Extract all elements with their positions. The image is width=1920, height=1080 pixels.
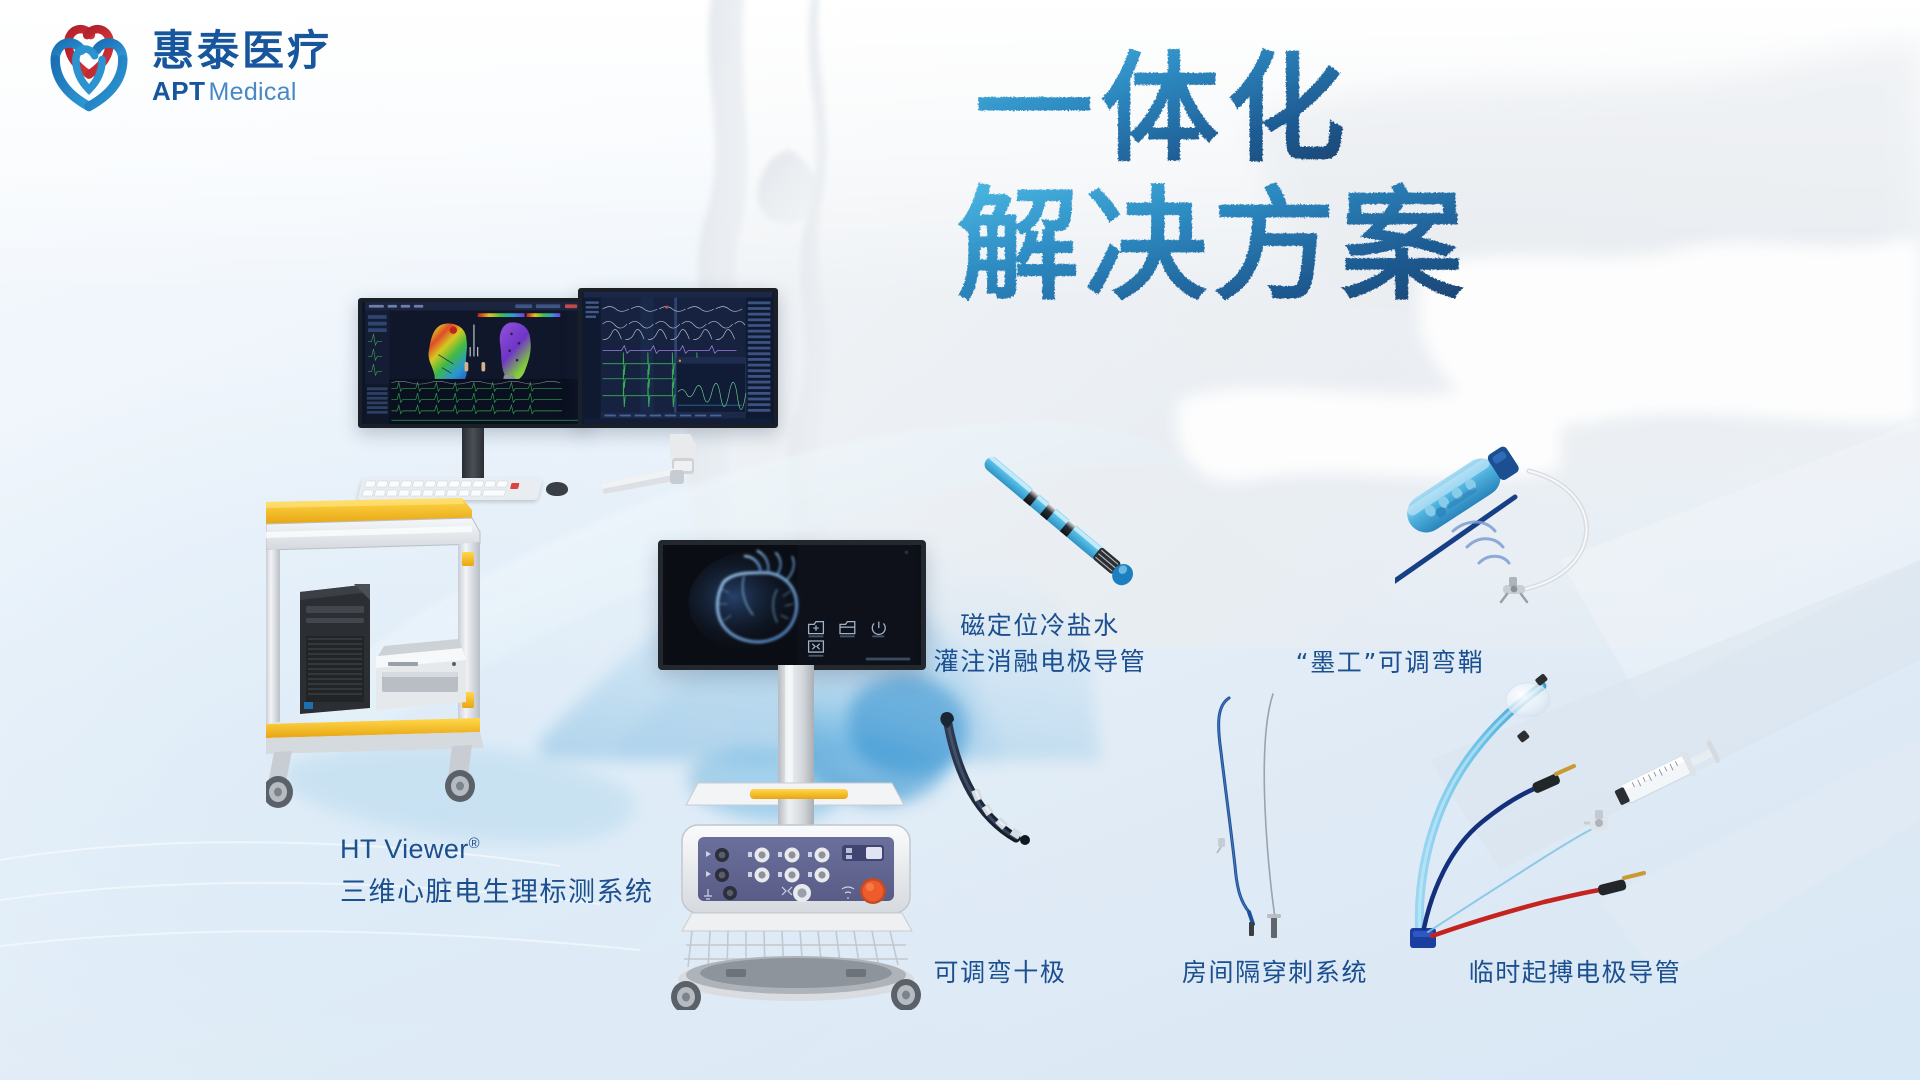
label-temporary-pacing-catheter: 临时起搏电极导管 [1469,955,1682,991]
ht-viewer-name-en: HT Viewer [340,834,469,864]
heart-monitor-screen [663,545,921,665]
steerable-sheath-image [1395,435,1725,635]
brand-name-en-apt: APT [152,76,206,107]
steerable-decapolar-catheter-image [930,710,1100,950]
transseptal-puncture-system-image [1205,690,1345,950]
workstation-cart [266,496,566,826]
recording-monitor-screen [582,292,774,424]
stimulator-cart [630,540,960,1010]
headline-svg: 一体化 解决方案 [975,40,1635,340]
headline-calligraphy: 一体化 解决方案 [975,40,1635,340]
label-ht-viewer: HT Viewer® 三维心脏电生理标测系统 [340,830,654,912]
ht-viewer-name-cn: 三维心脏电生理标测系统 [340,873,654,912]
mapping-monitor-screen [362,302,584,424]
brand-name-en-medical: Medical [209,78,297,107]
stimulator-cart-body [630,665,960,1010]
label-steerable-sheath: “墨工”可调弯鞘 [1296,645,1485,681]
trademark-symbol: ® [469,836,480,852]
irrigated-ablation-catheter-image [955,440,1175,610]
temporary-pacing-catheter-image [1410,670,1730,950]
headline-line2: 解决方案 [957,173,1469,317]
brand-logo[interactable]: 惠泰医疗 APT Medical [42,22,332,114]
label-transseptal-system: 房间隔穿刺系统 [1182,955,1368,991]
monitor-articulating-arm [600,428,730,494]
irrigated-line1: 磁定位冷盐水 [934,608,1147,644]
workstation-mouse[interactable] [546,482,568,496]
recording-monitor-right[interactable] [578,288,778,428]
poster-canvas: 惠泰医疗 APT Medical [0,0,1920,1080]
mapping-monitor-left[interactable] [358,298,588,428]
label-irrigated-ablation-catheter: 磁定位冷盐水 灌注消融电极导管 [934,608,1147,681]
apt-medical-double-heart-logo-icon [42,22,136,114]
irrigated-line2: 灌注消融电极导管 [934,644,1147,680]
heart-visualization-monitor[interactable] [658,540,926,670]
brand-name-cn: 惠泰医疗 [152,29,332,73]
label-decapolar-catheter: 可调弯十极 [933,955,1066,991]
headline-line1: 一体化 [975,39,1353,178]
